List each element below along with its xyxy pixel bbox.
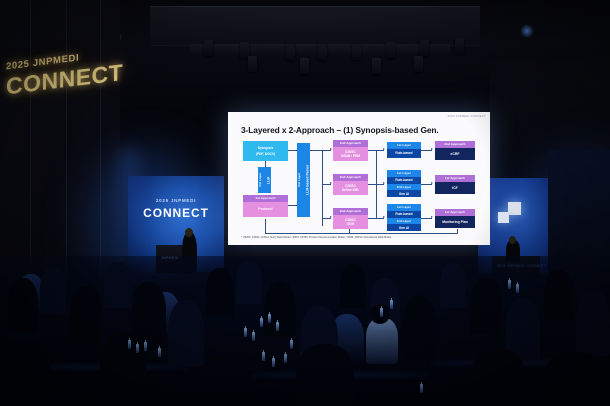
attendee (8, 278, 38, 332)
node-layer-2-body-2: Gen AI (387, 190, 421, 197)
stage-light (420, 40, 429, 56)
water-bottle (284, 354, 287, 363)
connector (368, 184, 376, 185)
node-cdisc-define-xml-sub: Define-XML (342, 188, 360, 192)
water-bottle (268, 314, 271, 323)
conference-hall-photo: 2025 JNPMEDI CONNECT 2025 JNPMEDI CONNEC… (0, 0, 610, 406)
water-bottle (420, 384, 423, 393)
slide-footnote-text: USDM: CDISC Unified Study Data Model / P… (243, 236, 391, 239)
node-cdisc-odm: 2nd Approach CDISC ODM (333, 208, 368, 229)
node-layer-2-header-1: 1st Layer (387, 170, 421, 177)
connector (288, 150, 297, 151)
side-screen-line2: CONNECT (128, 206, 224, 220)
stage-light (318, 44, 327, 60)
node-layer-3-body-2: Gen AI (387, 224, 421, 231)
water-bottle (136, 344, 139, 353)
node-output-icf-header: 1st Approach (435, 175, 475, 182)
node-output-monitoring-plan: 1st Approach Monitoring Plan (435, 209, 475, 228)
node-layer-3-header-2: 3rd Layer (387, 218, 421, 225)
left-wall (0, 0, 120, 300)
water-bottle (144, 342, 147, 351)
arrow-head (431, 148, 433, 150)
wall-seam (30, 0, 31, 300)
node-cdisc-usdm-sub: USDM / PRM (341, 154, 360, 158)
node-cdisc-usdm-header: 2nd Approach (333, 140, 368, 147)
water-bottle (380, 308, 383, 317)
node-layer-3-body-1: Rule-based (387, 211, 421, 218)
node-layer-1-header: 1st Layer (387, 142, 421, 149)
brand-logo-square (508, 202, 521, 215)
stage-light (386, 42, 395, 58)
attendee (440, 262, 466, 308)
slide-diagram: Synopsis (PDF, DOCX) 3rd Layer LLM 1st A… (241, 139, 477, 236)
attendee (576, 290, 610, 356)
node-cdisc-odm-sub: ODM (347, 222, 354, 226)
water-bottle (244, 328, 247, 337)
arrow-head (383, 182, 385, 184)
feedback-connector (349, 233, 457, 234)
attendee (402, 296, 436, 360)
node-llm-parser-label: LLM-based Parser (306, 165, 310, 195)
attendee (470, 278, 502, 334)
node-layer-rule-based-genai-2: 1st Layer Rule-based 3rd Layer Gen AI (387, 168, 421, 199)
node-output-monitoring-plan-body: Monitoring Plan (435, 216, 475, 228)
stage-light (455, 38, 464, 54)
arrow-head (431, 216, 433, 218)
water-bottle (390, 300, 393, 309)
stage-light (286, 44, 295, 60)
water-bottle (508, 280, 511, 289)
connector (368, 150, 376, 151)
node-synopsis-title: Synopsis (257, 145, 275, 152)
water-bottle (276, 322, 279, 331)
attendee-foreground (544, 352, 610, 406)
connector (310, 150, 322, 151)
node-output-ecrf: 2nd Approach eCRF (435, 141, 475, 160)
attendee (40, 266, 66, 314)
arrow-head (330, 148, 332, 150)
attendee-foreground (0, 340, 50, 406)
slide-brand-mark: 2025 JNPMEDI CONNECT (448, 115, 486, 118)
node-layer-3-header-1: 1st Layer (387, 204, 421, 211)
water-bottle (290, 340, 293, 349)
attendee (544, 270, 574, 322)
stage-light (352, 44, 361, 60)
attendee-foreground (470, 348, 526, 406)
feedback-connector (457, 229, 458, 234)
slide-footnote: * USDM: CDISC Unified Study Data Model /… (241, 236, 391, 239)
node-protocol-header: 1st Approach (243, 195, 288, 202)
node-cdisc-usdm: 2nd Approach CDISC USDM / PRM (333, 140, 368, 161)
stage-light (204, 40, 213, 56)
node-output-ecrf-body: eCRF (435, 148, 475, 160)
attendee-foreground (100, 332, 146, 406)
stage-light (414, 56, 423, 72)
arrow-head (383, 148, 385, 150)
attendee (132, 282, 166, 344)
node-layer-2-body-1: Rule-based (387, 177, 421, 184)
light-beam (120, 150, 138, 270)
water-bottle (158, 348, 161, 357)
node-layer-rule-based-genai-3: 1st Layer Rule-based 3rd Layer Gen AI (387, 202, 421, 233)
panelist-head (509, 236, 516, 244)
side-screen-line1: 2025 JNPMEDI (128, 198, 224, 203)
stage-light (248, 56, 257, 72)
stage-light (372, 58, 381, 74)
feedback-connector (265, 219, 266, 233)
wall-seam (100, 0, 101, 300)
water-bottle (128, 340, 131, 349)
attendee-foreground (296, 344, 354, 406)
node-llm-parser-layer: 3rd Layer (297, 173, 306, 187)
node-layer-1-body: Rule-based (387, 149, 421, 158)
speaker-head (185, 228, 193, 237)
node-llm-connector: 3rd Layer LLM (258, 167, 271, 193)
node-output-monitoring-plan-header: 1st Approach (435, 209, 475, 216)
brand-logo-square (498, 212, 509, 223)
node-cdisc-define-xml: 2nd Approach CDISC Define-XML (333, 174, 368, 195)
arrow-head (330, 216, 332, 218)
node-output-icf-body: ICF (435, 182, 475, 194)
water-bottle (252, 332, 255, 341)
wall-seam (66, 0, 67, 300)
attendee (104, 262, 132, 308)
attendee (264, 282, 296, 338)
connector (368, 218, 376, 219)
water-bottle (262, 352, 265, 361)
slide-title: 3-Layered x 2-Approach – (1) Synopsis-ba… (241, 125, 439, 135)
water-bottle (516, 284, 519, 293)
attendee (206, 268, 234, 316)
node-llm-connector-layer: 3rd Layer (258, 173, 267, 187)
connector (322, 150, 323, 226)
node-synopsis: Synopsis (PDF, DOCX) (243, 141, 288, 161)
node-llm-parser: 3rd Layer LLM-based Parser (297, 143, 310, 217)
audience-area (0, 256, 610, 406)
feedback-connector (265, 233, 350, 234)
arrow-head (383, 216, 385, 218)
node-cdisc-define-xml-header: 2nd Approach (333, 174, 368, 181)
node-protocol: 1st Approach Protocol (243, 195, 288, 217)
presentation-slide: 2025 JNPMEDI CONNECT 3-Layered x 2-Appro… (228, 112, 490, 245)
node-layer-2-header-2: 3rd Layer (387, 184, 421, 191)
node-cdisc-odm-header: 2nd Approach (333, 208, 368, 215)
node-llm-connector-label: LLM (267, 176, 271, 183)
node-synopsis-sub: (PDF, DOCX) (255, 152, 276, 158)
node-layer-rule-based-1: 1st Layer Rule-based (387, 142, 421, 158)
attendee (70, 286, 102, 344)
water-bottle (260, 318, 263, 327)
attendee (236, 260, 262, 304)
attendee-white-shirt (366, 318, 398, 364)
ceiling-light-glow (520, 24, 534, 38)
node-output-icf: 1st Approach ICF (435, 175, 475, 194)
water-bottle (272, 358, 275, 367)
attendee (168, 300, 204, 366)
node-output-ecrf-header: 2nd Approach (435, 141, 475, 148)
arrow-head (431, 182, 433, 184)
arrow-head (330, 182, 332, 184)
node-protocol-body: Protocol (243, 202, 288, 217)
attendee (340, 264, 366, 308)
stage-light (300, 58, 309, 74)
lighting-truss (150, 6, 480, 46)
